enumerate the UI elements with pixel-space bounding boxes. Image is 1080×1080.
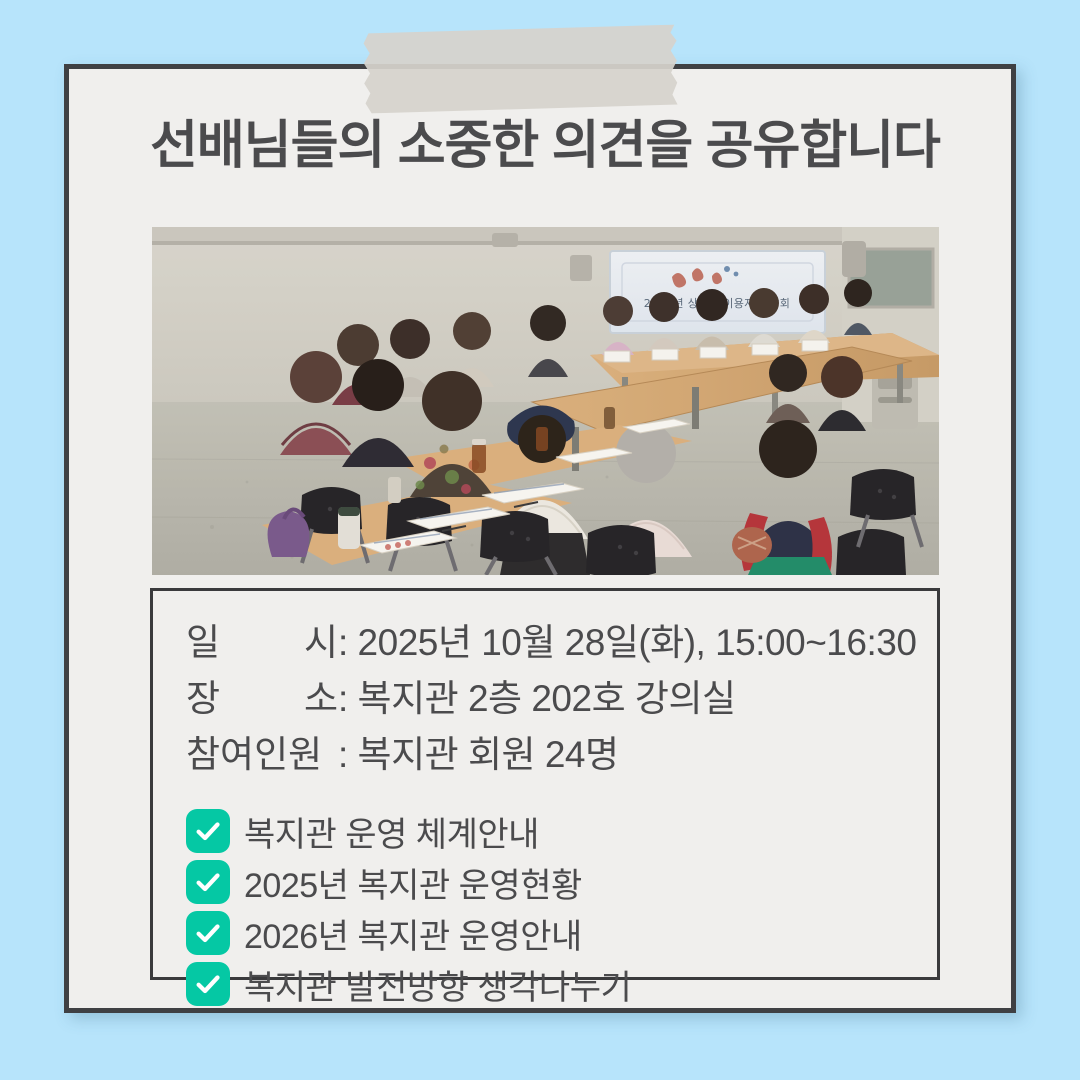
detail-value-location: : 복지관 2층 202호 강의실: [338, 671, 736, 727]
detail-value-datetime: : 2025년 10월 28일(화), 15:00~16:30: [338, 615, 916, 671]
event-photo-illustration: 2025년 상반기 이용자 간담회: [152, 227, 939, 575]
event-details-box: 일 시 : 2025년 10월 28일(화), 15:00~16:30 장 소 …: [150, 588, 940, 980]
detail-row-datetime: 일 시 : 2025년 10월 28일(화), 15:00~16:30: [153, 615, 937, 671]
check-icon: [186, 962, 230, 1006]
check-icon: [186, 911, 230, 955]
list-item-label: 복지관 발전방향 생각나누기: [244, 960, 631, 1009]
poster-card: 선배님들의 소중한 의견을 공유합니다: [64, 64, 1016, 1013]
list-item-label: 2026년 복지관 운영안내: [244, 909, 582, 958]
detail-row-location: 장 소 : 복지관 2층 202호 강의실: [153, 671, 937, 727]
list-item-label: 2025년 복지관 운영현황: [244, 858, 582, 907]
detail-label-location: 장 소: [186, 671, 338, 727]
detail-value-participants: : 복지관 회원 24명: [338, 727, 619, 783]
agenda-checklist: 복지관 운영 체계안내 2025년 복지관 운영현황 2026년 복지관 운영안…: [153, 806, 937, 1010]
list-item[interactable]: 2026년 복지관 운영안내: [186, 908, 937, 959]
check-icon: [186, 860, 230, 904]
check-icon: [186, 809, 230, 853]
detail-label-datetime: 일 시: [186, 615, 338, 671]
detail-label-participants: 참여인원: [186, 727, 338, 783]
list-item[interactable]: 복지관 발전방향 생각나누기: [186, 959, 937, 1010]
page-title: 선배님들의 소중한 의견을 공유합니다: [139, 117, 951, 177]
event-photo: 2025년 상반기 이용자 간담회: [152, 227, 939, 575]
detail-row-participants: 참여인원 : 복지관 회원 24명: [153, 727, 937, 783]
list-item[interactable]: 복지관 운영 체계안내: [186, 806, 937, 857]
list-item[interactable]: 2025년 복지관 운영현황: [186, 857, 937, 908]
list-item-label: 복지관 운영 체계안내: [244, 807, 539, 856]
poster-canvas: 선배님들의 소중한 의견을 공유합니다: [0, 0, 1080, 1080]
